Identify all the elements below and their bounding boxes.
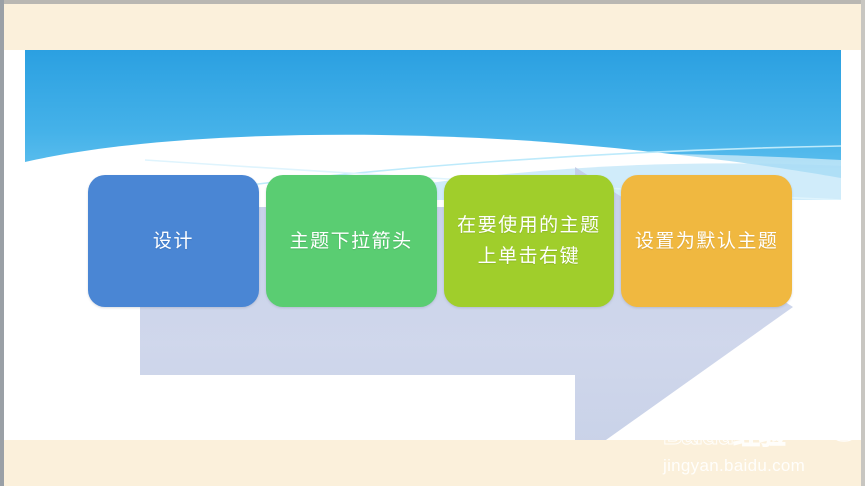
step-label-2: 主题下拉箭头 <box>280 226 423 257</box>
step-box-2[interactable]: 主题下拉箭头 <box>266 175 437 307</box>
viewer-left-rule <box>0 0 4 486</box>
viewer-bottom-band <box>0 440 865 486</box>
process-steps: 设计 主题下拉箭头 在要使用的主题上单击右键 设置为默认主题 <box>88 175 792 307</box>
slide-canvas: 设计 主题下拉箭头 在要使用的主题上单击右键 设置为默认主题 <box>25 50 861 440</box>
viewer-top-band <box>0 4 865 50</box>
step-box-3[interactable]: 在要使用的主题上单击右键 <box>444 175 615 307</box>
step-label-3: 在要使用的主题上单击右键 <box>444 210 615 272</box>
step-label-4: 设置为默认主题 <box>625 226 789 257</box>
step-box-1[interactable]: 设计 <box>88 175 259 307</box>
slide-viewer: 设计 主题下拉箭头 在要使用的主题上单击右键 设置为默认主题 <box>0 0 865 486</box>
step-box-4[interactable]: 设置为默认主题 <box>621 175 792 307</box>
viewer-right-rule <box>861 0 865 486</box>
step-label-1: 设计 <box>143 226 204 257</box>
